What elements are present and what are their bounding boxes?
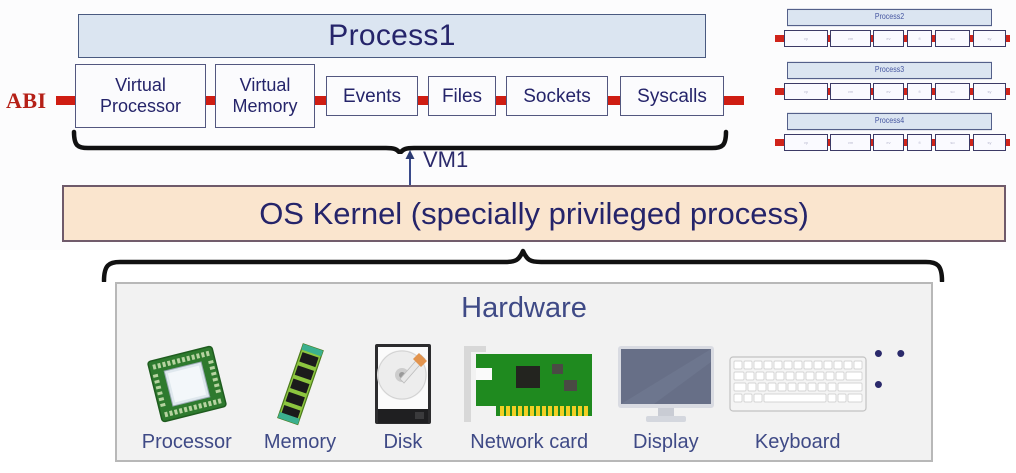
hardware-title-label: Hardware bbox=[117, 292, 931, 325]
mini-process-group-process2[interactable]: Process2vpvmevfisosy bbox=[774, 10, 1010, 52]
interface-box-sockets[interactable]: Sockets bbox=[506, 76, 608, 116]
hardware-item-display[interactable]: Display bbox=[604, 328, 728, 454]
mini-interface-box-5[interactable]: sy bbox=[973, 134, 1006, 151]
hardware-item-network-card[interactable]: Network card bbox=[454, 328, 604, 454]
mini-interface-box-label: vp bbox=[785, 135, 827, 150]
mini-interface-box-label: ev bbox=[874, 31, 903, 46]
mini-process-group-process4[interactable]: Process4vpvmevfisosy bbox=[774, 114, 1010, 156]
hardware-item-processor[interactable]: Processor bbox=[125, 328, 249, 454]
hardware-label-display: Display bbox=[633, 431, 699, 454]
interface-box-label: Sockets bbox=[523, 86, 591, 107]
mini-interface-box-5[interactable]: sy bbox=[973, 83, 1006, 100]
process1-title-bar[interactable]: Process1 bbox=[78, 14, 706, 58]
mini-interface-box-2[interactable]: ev bbox=[873, 30, 904, 47]
mini-interface-box-2[interactable]: ev bbox=[873, 83, 904, 100]
mini-process-interface-row: vpvmevfisosy bbox=[774, 82, 1006, 102]
mini-interface-box-label: sy bbox=[974, 31, 1005, 46]
mini-interface-box-2[interactable]: ev bbox=[873, 134, 904, 151]
interface-box-virtual-processor[interactable]: VirtualProcessor bbox=[75, 64, 206, 128]
mini-interface-box-label: so bbox=[936, 84, 969, 99]
process1-title-label: Process1 bbox=[328, 19, 455, 53]
mini-interface-box-label: so bbox=[936, 31, 969, 46]
mini-interface-box-3[interactable]: fi bbox=[907, 83, 932, 100]
mini-interface-box-1[interactable]: vm bbox=[830, 83, 871, 100]
interface-box-label: Files bbox=[442, 86, 482, 107]
mini-interface-box-4[interactable]: so bbox=[935, 134, 970, 151]
mini-process-interface-row: vpvmevfisosy bbox=[774, 29, 1006, 49]
mini-interface-box-label: ev bbox=[874, 135, 903, 150]
mini-interface-box-label: vm bbox=[831, 135, 870, 150]
os-kernel-bar[interactable]: OS Kernel (specially privileged process) bbox=[62, 185, 1006, 242]
interface-box-label: VirtualMemory bbox=[232, 75, 297, 117]
mini-interface-box-4[interactable]: so bbox=[935, 30, 970, 47]
mini-process-group-process3[interactable]: Process3vpvmevfisosy bbox=[774, 63, 1010, 105]
hardware-item-list: Processor bbox=[117, 328, 935, 460]
hardware-more-ellipsis: • • • bbox=[874, 338, 927, 400]
hardware-item-memory[interactable]: Memory bbox=[249, 328, 352, 454]
mini-interface-box-label: fi bbox=[908, 135, 931, 150]
mini-interface-box-label: fi bbox=[908, 84, 931, 99]
hardware-label-disk: Disk bbox=[383, 431, 422, 454]
hardware-label-memory: Memory bbox=[264, 431, 336, 454]
monitor-icon bbox=[614, 341, 718, 427]
interface-box-syscalls[interactable]: Syscalls bbox=[620, 76, 724, 116]
mini-interface-box-0[interactable]: vp bbox=[784, 83, 828, 100]
mini-interface-box-label: sy bbox=[974, 84, 1005, 99]
ram-stick-icon bbox=[262, 341, 338, 427]
abi-connector-segment-6 bbox=[722, 96, 744, 105]
hardware-item-keyboard[interactable]: Keyboard bbox=[728, 328, 868, 454]
mini-interface-box-0[interactable]: vp bbox=[784, 30, 828, 47]
interface-box-virtual-memory[interactable]: VirtualMemory bbox=[215, 64, 315, 128]
mini-interface-box-1[interactable]: vm bbox=[830, 134, 871, 151]
interface-box-events[interactable]: Events bbox=[326, 76, 418, 116]
hardware-label-processor: Processor bbox=[142, 431, 232, 454]
keyboard-icon bbox=[728, 341, 868, 427]
os-kernel-label: OS Kernel (specially privileged process) bbox=[259, 196, 809, 232]
mini-interface-box-label: ev bbox=[874, 84, 903, 99]
hardware-panel[interactable]: Hardware bbox=[115, 282, 933, 462]
mini-process-title: Process2 bbox=[787, 9, 992, 26]
network-card-icon bbox=[458, 341, 600, 427]
mini-process-interface-row: vpvmevfisosy bbox=[774, 133, 1006, 153]
mini-process-title: Process4 bbox=[787, 113, 992, 130]
mini-interface-box-1[interactable]: vm bbox=[830, 30, 871, 47]
mini-process-title: Process3 bbox=[787, 62, 992, 79]
diagram-canvas: Process1 ABI VirtualProcessorVirtualMemo… bbox=[0, 0, 1016, 473]
interface-box-label: Events bbox=[343, 86, 401, 107]
hard-disk-icon bbox=[371, 341, 435, 427]
mini-interface-box-3[interactable]: fi bbox=[907, 134, 932, 151]
mini-interface-box-label: so bbox=[936, 135, 969, 150]
mini-interface-box-4[interactable]: so bbox=[935, 83, 970, 100]
vm1-label: VM1 bbox=[423, 147, 468, 173]
interface-box-files[interactable]: Files bbox=[428, 76, 496, 116]
hardware-item-disk[interactable]: Disk bbox=[351, 328, 454, 454]
hardware-label-network-card: Network card bbox=[470, 431, 588, 454]
mini-interface-box-label: sy bbox=[974, 135, 1005, 150]
mini-interface-box-3[interactable]: fi bbox=[907, 30, 932, 47]
hardware-label-keyboard: Keyboard bbox=[755, 431, 841, 454]
abi-label: ABI bbox=[6, 88, 47, 114]
mini-interface-box-label: vm bbox=[831, 84, 870, 99]
interface-box-label: VirtualProcessor bbox=[100, 75, 181, 117]
mini-interface-box-label: vp bbox=[785, 31, 827, 46]
mini-interface-box-0[interactable]: vp bbox=[784, 134, 828, 151]
mini-interface-box-5[interactable]: sy bbox=[973, 30, 1006, 47]
mini-interface-box-label: vm bbox=[831, 31, 870, 46]
mini-interface-box-label: fi bbox=[908, 31, 931, 46]
interface-box-label: Syscalls bbox=[637, 86, 707, 107]
cpu-chip-icon bbox=[141, 341, 233, 427]
mini-interface-box-label: vp bbox=[785, 84, 827, 99]
